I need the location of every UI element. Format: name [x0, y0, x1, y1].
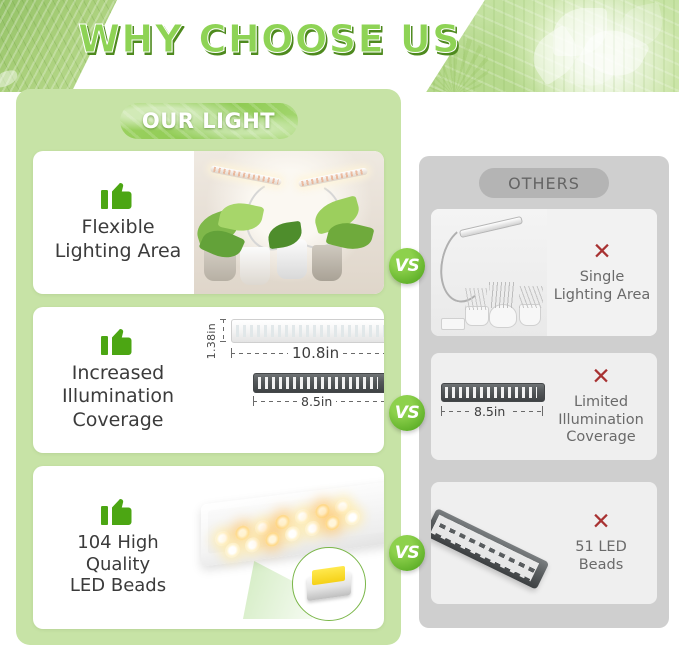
other-row-2-label: Limited Illumination Coverage: [558, 394, 644, 447]
our-row-3-feature: 104 High Quality LED Beads: [33, 466, 203, 629]
page-title: WHY CHOOSE US: [78, 17, 458, 61]
vs-badge-label: VS: [395, 403, 419, 423]
led-bar-dimension-diagram: 1.38in 10.8in 8.5in: [193, 307, 380, 453]
our-row-3-label: 104 High Quality LED Beads: [70, 532, 166, 598]
x-mark-icon: ✕: [591, 511, 610, 534]
our-led-bar-graphic: [231, 319, 384, 343]
our-light-panel: OUR LIGHT Flexible Lighting Area: [16, 89, 401, 645]
led-bead: [285, 525, 300, 542]
plant-pot: [240, 247, 270, 285]
our-light-pill: OUR LIGHT: [120, 103, 298, 139]
thumbs-up-icon: [101, 182, 135, 210]
infographic-root: WHY CHOOSE US OUR LIGHT Flexible Lightin…: [0, 0, 679, 662]
vs-badge-label: VS: [395, 256, 419, 276]
plant-foliage: [465, 288, 487, 310]
our-row-1-feature: Flexible Lighting Area: [33, 151, 203, 294]
plant-foliage: [489, 282, 515, 308]
dimension-other-length: 8.5in: [297, 394, 336, 409]
gray-led-bar-diagram: 8.5in: [431, 353, 551, 460]
led-bar-body: [201, 479, 384, 566]
thumbs-up-icon: [101, 328, 135, 356]
other-row-3-card: ✕ 51 LED Beads: [431, 482, 657, 604]
led-bead: [305, 520, 320, 537]
dimension-tick: [542, 406, 543, 416]
header-banner: WHY CHOOSE US: [0, 0, 679, 92]
gray-led-bar-diagonal: [431, 482, 556, 604]
led-chip-icon: [307, 571, 351, 601]
dimension-other-length: 8.5in: [470, 404, 509, 419]
other-row-3-feature: ✕ 51 LED Beads: [545, 482, 657, 604]
other-row-1-feature: ✕ Single Lighting Area: [547, 209, 657, 336]
led-chip-zoom-callout: [292, 547, 366, 621]
vs-badge-row-1: VS: [389, 248, 425, 284]
vs-badge-label: VS: [395, 543, 419, 563]
our-row-2-label: Increased Illumination Coverage: [62, 362, 174, 432]
other-row-2-card: 8.5in ✕ Limited Illumination Coverage: [431, 353, 657, 460]
led-chip-phosphor: [312, 566, 345, 586]
other-led-bar-graphic: [441, 383, 545, 402]
vs-badge-row-2: VS: [389, 395, 425, 431]
led-bead: [245, 536, 260, 553]
our-row-2-feature: Increased Illumination Coverage: [33, 307, 203, 453]
our-row-1-label: Flexible Lighting Area: [55, 216, 182, 262]
led-bead: [345, 509, 360, 526]
dimension-vertical-line: [223, 319, 224, 341]
others-pill: OTHERS: [479, 168, 609, 198]
thumbs-up-icon: [101, 498, 135, 526]
others-panel: OTHERS ✕ Single Lighting Area: [419, 156, 669, 628]
others-label: OTHERS: [508, 174, 580, 193]
led-bead-closeup-photo: [183, 466, 384, 629]
our-row-1-card: Flexible Lighting Area: [33, 151, 384, 294]
x-mark-icon: ✕: [591, 366, 610, 389]
led-bead: [225, 542, 240, 559]
dimension-tick: [441, 406, 442, 416]
dimension-tick: [231, 348, 232, 358]
clip-lamp-photo: [431, 209, 551, 336]
our-light-label: OUR LIGHT: [142, 109, 275, 133]
x-mark-icon: ✕: [592, 241, 611, 264]
other-row-1-card: ✕ Single Lighting Area: [431, 209, 657, 336]
dimension-tick: [220, 319, 226, 320]
dimension-tick: [220, 341, 226, 342]
led-bead: [325, 515, 340, 532]
our-row-3-card: 104 High Quality LED Beads: [33, 466, 384, 629]
lamp-clamp-icon: [441, 318, 465, 330]
plant-pot: [312, 245, 342, 281]
other-row-2-feature: ✕ Limited Illumination Coverage: [545, 353, 657, 460]
other-row-1-label: Single Lighting Area: [554, 269, 651, 304]
plant-foliage: [519, 286, 543, 308]
lamp-bar-icon: [459, 216, 523, 238]
our-row-2-card: Increased Illumination Coverage 1.38in 1…: [33, 307, 384, 453]
grow-light-with-plants-photo: [194, 151, 384, 294]
other-row-3-label: 51 LED Beads: [575, 539, 626, 574]
other-led-bar-graphic: [431, 508, 549, 590]
dimension-tick: [253, 396, 254, 406]
vs-badge-row-3: VS: [389, 535, 425, 571]
other-led-bar-graphic: [253, 373, 384, 393]
dimension-our-length: 10.8in: [288, 344, 343, 362]
led-bead: [265, 531, 280, 548]
dimension-height-label: 1.38in: [205, 323, 218, 359]
